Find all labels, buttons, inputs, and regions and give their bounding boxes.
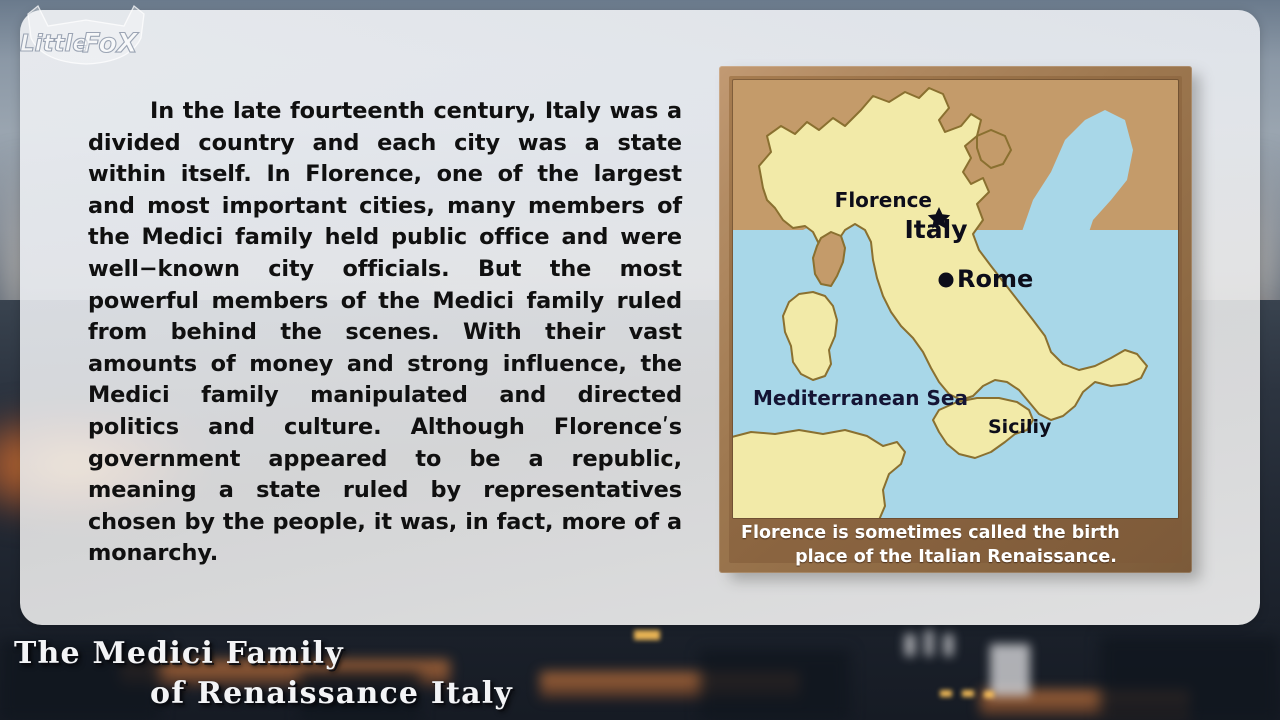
map-label-italy: Italy [905, 215, 968, 244]
background-spire [944, 634, 953, 656]
background-building [1100, 636, 1280, 720]
background-spire [905, 634, 915, 656]
article-paragraph: In the late fourteenth century, Italy wa… [88, 98, 682, 566]
map-viewport: Florence Italy Rome Mediterranean Sea Si… [733, 80, 1178, 518]
littlefox-wordmark: Little FoX [20, 28, 139, 59]
map-marker-rome-dot [939, 273, 954, 288]
lesson-title-line-2: of Renaissance Italy [0, 674, 700, 714]
illustration-caption: Florence is sometimes called the birth p… [741, 521, 1171, 569]
background-tower-block [990, 644, 1030, 696]
background-spire [925, 630, 933, 656]
lesson-title: The Medici Family of Renaissance Italy [0, 634, 700, 714]
map-label-rome: Rome [957, 265, 1033, 293]
littlefox-logo: Little FoX [8, 4, 168, 66]
lesson-title-line-1: The Medici Family [0, 634, 700, 674]
map-label-florence: Florence [835, 188, 932, 212]
map-label-mediterranean-sea: Mediterranean Sea [753, 386, 968, 410]
svg-text:FoX: FoX [82, 28, 139, 59]
background-light [962, 690, 974, 697]
picture-frame: Florence Italy Rome Mediterranean Sea Si… [719, 66, 1192, 573]
article-text: In the late fourteenth century, Italy wa… [88, 96, 682, 570]
caption-line-2: place of the Italian Renaissance. [741, 545, 1171, 569]
svg-text:Little: Little [20, 31, 88, 57]
background-light [984, 691, 994, 698]
map-label-siciliy: Siciliy [988, 416, 1052, 438]
caption-line-1: Florence is sometimes called the birth [741, 521, 1171, 545]
background-building [700, 650, 850, 720]
background-light [940, 690, 952, 697]
slide-stage: Little FoX In the late fourteenth centur… [0, 0, 1280, 720]
italy-map: Florence Italy Rome Mediterranean Sea Si… [733, 80, 1178, 518]
